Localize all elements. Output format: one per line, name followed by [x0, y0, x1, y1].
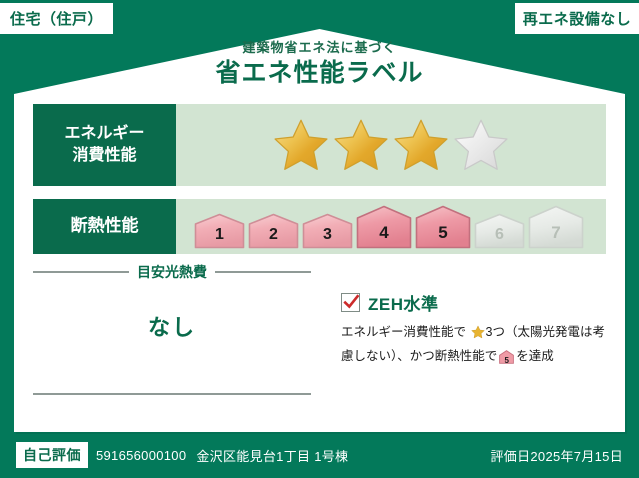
utility-cost-bottom-rule: [33, 393, 311, 395]
zeh-heading-row: ZEH水準: [341, 290, 607, 315]
inline-house-number: 5: [499, 354, 514, 367]
zeh-standard-block: ZEH水準 エネルギー消費性能で 3つ（太陽光発電は考慮しない）、かつ断熱性能で…: [341, 290, 607, 370]
utility-cost-heading-row: 目安光熱費: [33, 262, 311, 282]
star-empty-icon: [452, 117, 510, 173]
insulation-level-4: 4: [356, 205, 412, 249]
evaluation-type-badge: 自己評価: [16, 442, 88, 468]
utility-cost-value: なし: [33, 310, 311, 342]
insulation-label: 断熱性能: [71, 215, 139, 238]
zeh-desc-part1: エネルギー消費性能で: [341, 325, 466, 339]
house-icon: [415, 205, 471, 249]
energy-performance-label: 住宅（住戸） 再エネ設備なし 建築物省エネ法に基づく 省エネ性能ラベル エネルギ…: [0, 0, 639, 478]
utility-cost-block: 目安光熱費 なし: [33, 262, 311, 342]
inline-house-badge: 5: [499, 350, 514, 371]
insulation-level-scale: 1234567: [194, 205, 584, 249]
renewable-energy-tag: 再エネ設備なし: [515, 3, 639, 34]
insulation-level-5: 5: [415, 205, 471, 249]
star-filled-icon: [392, 117, 450, 173]
utility-cost-heading: 目安光熱費: [137, 262, 207, 282]
heading-rule-left: [33, 271, 129, 273]
house-icon: [474, 213, 525, 249]
house-icon: [194, 213, 245, 249]
evaluation-date: 評価日2025年7月15日: [490, 446, 623, 465]
title-subtitle: 建築物省エネ法に基づく: [0, 40, 639, 56]
star-rating: [272, 117, 510, 173]
insulation-performance-value-cell: 1234567: [176, 199, 606, 254]
insulation-level-2: 2: [248, 213, 299, 249]
star-filled-icon: [272, 117, 330, 173]
energy-performance-row: エネルギー 消費性能: [33, 104, 606, 186]
zeh-checkbox[interactable]: [341, 293, 360, 312]
insulation-level-7: 7: [528, 205, 584, 249]
energy-performance-label-cell: エネルギー 消費性能: [33, 104, 176, 186]
insulation-level-3: 3: [302, 213, 353, 249]
zeh-description: エネルギー消費性能で 3つ（太陽光発電は考慮しない）、かつ断熱性能で 5を達成: [341, 322, 607, 370]
label-title-block: 建築物省エネ法に基づく 省エネ性能ラベル: [0, 40, 639, 89]
building-type-tag: 住宅（住戸）: [0, 3, 113, 34]
energy-label-line1: エネルギー: [64, 123, 144, 145]
house-icon: [356, 205, 412, 249]
energy-performance-value-cell: [176, 104, 606, 186]
check-icon: [343, 294, 360, 311]
insulation-level-6: 6: [474, 213, 525, 249]
star-filled-icon: [332, 117, 390, 173]
heading-rule-right: [215, 271, 311, 273]
inline-star-icon: [467, 328, 484, 342]
property-address: 金沢区能見台1丁目 1号棟: [196, 446, 348, 465]
label-id: 591656000100: [96, 448, 186, 463]
insulation-level-1: 1: [194, 213, 245, 249]
house-icon: [302, 213, 353, 249]
house-icon: [528, 205, 584, 249]
zeh-title: ZEH水準: [368, 290, 439, 315]
insulation-performance-row: 断熱性能 1234567: [33, 199, 606, 254]
insulation-performance-label-cell: 断熱性能: [33, 199, 176, 254]
title-main: 省エネ性能ラベル: [0, 58, 639, 89]
zeh-desc-part3: を達成: [516, 349, 554, 363]
house-icon: [248, 213, 299, 249]
label-footer: 自己評価 591656000100 金沢区能見台1丁目 1号棟 評価日2025年…: [0, 432, 639, 478]
energy-label-line2: 消費性能: [72, 145, 136, 167]
